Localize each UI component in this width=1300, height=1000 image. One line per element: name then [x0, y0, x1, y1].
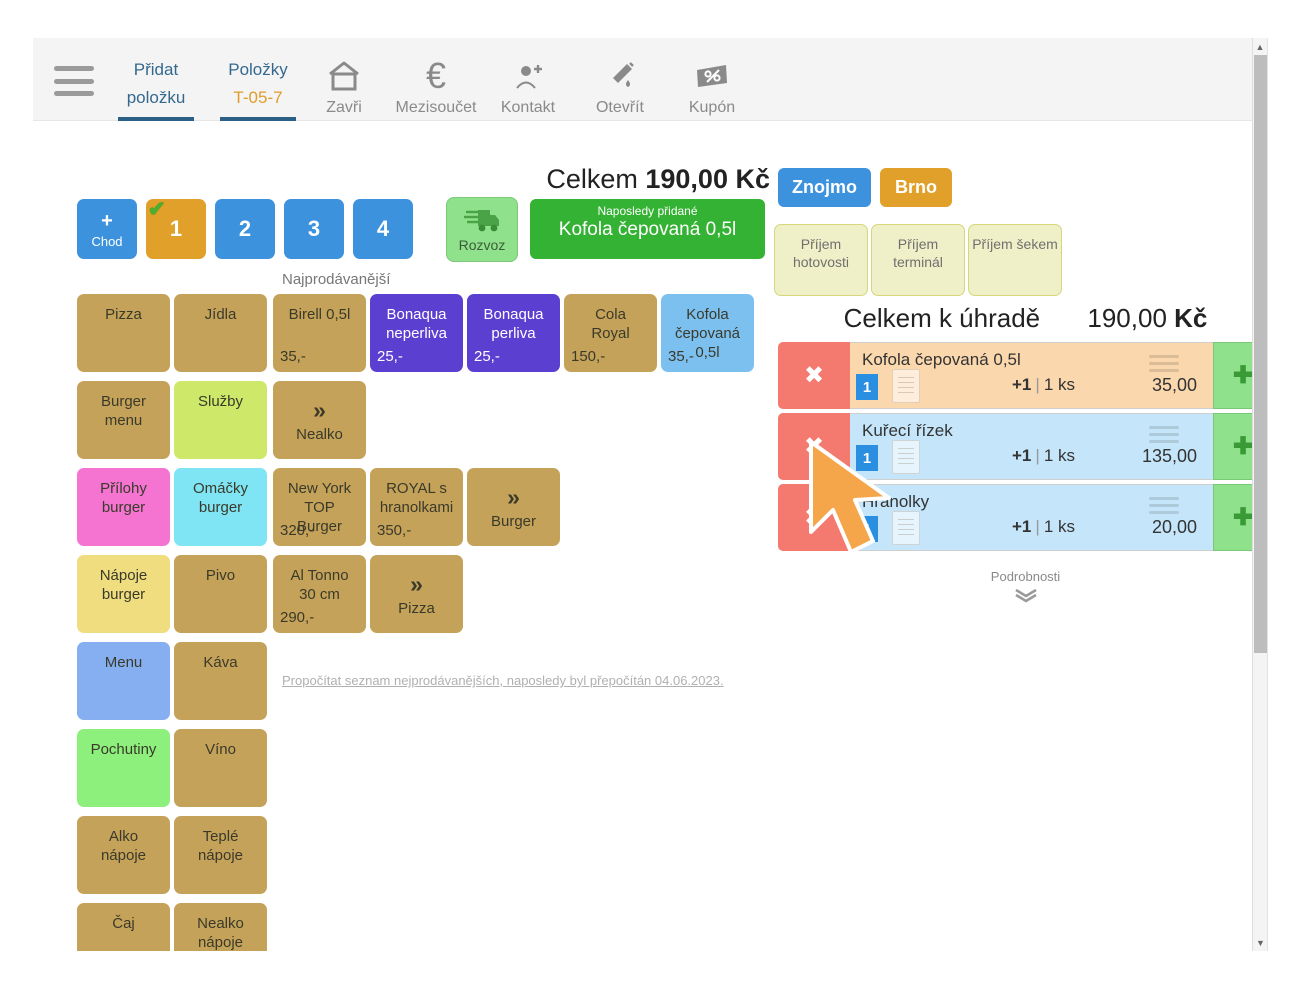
tab-add-item-underline [118, 117, 194, 121]
scroll-down-button[interactable]: ▼ [1253, 934, 1268, 951]
bestseller-tile-bonaqua-neperliva[interactable]: Bonaquaneperliva25,- [370, 294, 463, 372]
bestseller-tile-kofola-epovan-0-5l[interactable]: Kofolačepovaná0,5l35,- [661, 294, 754, 372]
payment-cheque-label: Příjem šekem [972, 236, 1058, 252]
bestseller-tile-price: 35,- [668, 347, 694, 366]
course-button-2-label: 2 [239, 216, 251, 242]
category-tile-label: Pivo [206, 567, 235, 584]
category-tile-pochutiny[interactable]: Pochutiny [77, 729, 170, 807]
category-tile-aj[interactable]: Čaj [77, 903, 170, 951]
course-button-2[interactable]: 2 [215, 199, 275, 259]
truck-icon [462, 206, 502, 237]
branch-button-brno[interactable]: Brno [880, 168, 952, 207]
bestseller-group-tile-nealko[interactable]: »Nealko [273, 381, 366, 459]
chevron-right-icon: » [273, 399, 366, 421]
order-item-body[interactable]: Kuřecí řízek1+1|1 ks135,00 [850, 413, 1213, 480]
bestseller-tile-label: Al Tonno30 cm [290, 567, 348, 603]
order-item-name: Kuřecí řízek [862, 421, 953, 441]
bestseller-tile-price: 150,- [571, 347, 605, 366]
category-tile-v-no[interactable]: Víno [174, 729, 267, 807]
bestseller-group-label: Pizza [370, 599, 463, 618]
category-tile-j-dla[interactable]: Jídla [174, 294, 267, 372]
bestseller-group-label: Burger [467, 512, 560, 531]
toolbar-button-open-label: Otevřít [574, 99, 666, 117]
chevron-down-icon [778, 587, 1268, 605]
close-icon: ✖ [804, 503, 824, 532]
category-tile-menu[interactable]: Menu [77, 642, 170, 720]
order-item-row[interactable]: ✖Hranolky1+1|1 ks20,00✚ [778, 484, 1268, 551]
bestseller-tile-cola-royal[interactable]: ColaRoyal150,- [564, 294, 657, 372]
category-tile-label: Káva [203, 654, 237, 671]
order-item-quantity: +1|1 ks [1012, 446, 1075, 466]
bestseller-tile-birell-0-5l[interactable]: Birell 0,5l35,- [273, 294, 366, 372]
percent-ticket-icon [666, 56, 758, 96]
order-item-delete-button[interactable]: ✖ [778, 413, 850, 480]
branch-button-znojmo-label: Znojmo [792, 177, 857, 198]
toolbar-button-close[interactable]: Zavři [298, 38, 390, 117]
bestseller-tile-label: ROYAL shranolkami [380, 480, 453, 516]
delivery-button[interactable]: Rozvoz [446, 197, 518, 262]
payment-terminal-label: Příjem terminál [893, 236, 943, 270]
bestseller-tile-price: 25,- [377, 347, 403, 366]
bestseller-tile-price: 35,- [280, 347, 306, 366]
payment-cheque-button[interactable]: Příjem šekem [968, 224, 1062, 296]
add-course-button[interactable]: + Chod [77, 199, 137, 259]
note-icon [892, 369, 920, 403]
category-tile-n-poje-burger[interactable]: Nápojeburger [77, 555, 170, 633]
course-button-3[interactable]: 3 [284, 199, 344, 259]
category-tile-label: Omáčkyburger [193, 480, 248, 516]
last-added-button[interactable]: Naposledy přidané Kofola čepovaná 0,5l [530, 199, 765, 259]
category-tile-label: Nealkonápoje [197, 915, 244, 951]
category-tile-label: Alkonápoje [101, 828, 146, 864]
order-item-name: Hranolky [862, 492, 929, 512]
course-button-3-label: 3 [308, 216, 320, 242]
category-tile-pizza[interactable]: Pizza [77, 294, 170, 372]
course-button-1-label: 1 [170, 216, 182, 242]
order-item-delete-button[interactable]: ✖ [778, 484, 850, 551]
bestseller-tile-price: 25,- [474, 347, 500, 366]
bestseller-tile-new-york-top-burger[interactable]: New YorkTOPBurger320,- [273, 468, 366, 546]
payment-terminal-button[interactable]: Příjem terminál [871, 224, 965, 296]
category-tile-label: Nápojeburger [100, 567, 148, 603]
plus-icon: ✚ [1233, 432, 1253, 461]
plus-icon: ✚ [1233, 503, 1253, 532]
bestseller-group-label: Nealko [273, 425, 366, 444]
order-total-top: Celkem 190,00 Kč [546, 164, 770, 195]
add-course-plus: + [101, 210, 113, 233]
branch-button-brno-label: Brno [895, 177, 937, 198]
category-tile-alko-n-poje[interactable]: Alkonápoje [77, 816, 170, 894]
order-item-amount: 135,00 [1142, 446, 1197, 467]
bestseller-tile-price: 290,- [280, 608, 314, 627]
category-tile-p-lohy-burger[interactable]: Přílohyburger [77, 468, 170, 546]
course-selector: + Chod ✔ 1 2 3 4 [77, 199, 413, 259]
person-add-icon [482, 56, 574, 96]
order-item-body[interactable]: Hranolky1+1|1 ks20,00 [850, 484, 1213, 551]
tab-items[interactable]: Položky T-05-7 [218, 38, 298, 112]
home-icon [298, 56, 390, 96]
payable-total: Celkem k úhradě 190,00 Kč [778, 303, 1268, 334]
order-total-top-amount: 190,00 [645, 164, 728, 194]
order-total-top-currency: Kč [735, 164, 770, 194]
bestseller-tile-price: 350,- [377, 521, 411, 540]
bestseller-tile-label: Bonaquaperliva [483, 306, 543, 342]
order-item-course-badge: 1 [856, 374, 878, 400]
scroll-up-button[interactable]: ▲ [1253, 38, 1267, 55]
details-toggle-label: Podrobnosti [991, 569, 1060, 584]
order-item-quantity: +1|1 ks [1012, 517, 1075, 537]
add-course-label: Chod [91, 234, 122, 249]
course-button-1[interactable]: ✔ 1 [146, 199, 206, 259]
bottle-pour-icon [574, 56, 666, 96]
scrollbar-thumb[interactable] [1254, 55, 1267, 653]
bestseller-tile-bonaqua-perliva[interactable]: Bonaquaperliva25,- [467, 294, 560, 372]
toolbar-button-subtotal-label: Mezisoučet [390, 99, 482, 117]
tab-items-underline [220, 117, 296, 121]
category-tile-label: Menu [105, 654, 143, 671]
toolbar-button-close-label: Zavři [298, 99, 390, 117]
bestseller-tile-label: Bonaquaneperliva [386, 306, 447, 342]
branch-button-znojmo[interactable]: Znojmo [778, 168, 871, 207]
order-item-course-badge: 1 [856, 445, 878, 471]
bestseller-group-tile-burger[interactable]: »Burger [467, 468, 560, 546]
toolbar-button-coupon[interactable]: Kupón [666, 38, 758, 117]
chevron-right-icon: » [467, 486, 560, 508]
payment-cash-label: Příjem hotovosti [793, 236, 849, 270]
category-tile-burger-menu[interactable]: Burgermenu [77, 381, 170, 459]
payable-total-label: Celkem k úhradě [844, 303, 1041, 333]
last-added-caption: Naposledy přidané [530, 204, 765, 218]
category-tile-label: Pochutiny [91, 741, 157, 758]
order-item-amount: 35,00 [1152, 375, 1197, 396]
note-icon [892, 511, 920, 545]
category-tile-label: Čaj [112, 915, 135, 932]
order-item-menu-icon[interactable] [1149, 426, 1179, 447]
category-tile-label: Teplénápoje [198, 828, 243, 864]
payment-cash-button[interactable]: Příjem hotovosti [774, 224, 868, 296]
close-icon: ✖ [804, 432, 824, 461]
top-toolbar: Přidat položku Položky T-05-7 Zavři € Me… [33, 38, 1254, 121]
category-tile-label: Burgermenu [101, 393, 146, 429]
tab-add-item[interactable]: Přidat položku [116, 38, 196, 112]
toolbar-button-contact[interactable]: Kontakt [482, 38, 574, 117]
category-tile-om-ky-burger[interactable]: Omáčkyburger [174, 468, 267, 546]
bestseller-tile-al-tonno-30-cm[interactable]: Al Tonno30 cm290,- [273, 555, 366, 633]
bestseller-tile-price: 320,- [280, 521, 314, 540]
category-tile-label: Jídla [205, 306, 237, 323]
close-icon: ✖ [804, 361, 824, 390]
order-item-row[interactable]: ✖Kuřecí řízek1+1|1 ks135,00✚ [778, 413, 1268, 480]
euro-icon: € [390, 56, 482, 96]
payable-total-amount: 190,00 [1087, 303, 1167, 333]
bestsellers-label: Najprodávanější [282, 271, 390, 288]
order-item-name: Kofola čepovaná 0,5l [862, 350, 1021, 370]
category-tile-label: Víno [205, 741, 236, 758]
category-tile-nealko-n-poje[interactable]: Nealkonápoje [174, 903, 267, 951]
category-tile-tepl-n-poje[interactable]: Teplénápoje [174, 816, 267, 894]
category-tile-k-va[interactable]: Káva [174, 642, 267, 720]
course-button-4-label: 4 [377, 216, 389, 242]
payable-total-currency: Kč [1174, 303, 1207, 333]
course-checked-icon: ✔ [148, 197, 166, 222]
order-item-body[interactable]: Kofola čepovaná 0,5l1+1|1 ks35,00 [850, 342, 1213, 409]
bestseller-group-tile-pizza[interactable]: »Pizza [370, 555, 463, 633]
tab-add-item-line2: položku [116, 84, 196, 112]
delivery-button-label: Rozvoz [459, 237, 506, 253]
order-item-course-badge: 1 [856, 516, 878, 542]
toolbar-button-subtotal[interactable]: € Mezisoučet [390, 38, 482, 117]
order-item-amount: 20,00 [1152, 517, 1197, 538]
bestseller-tile-label: ColaRoyal [591, 306, 629, 342]
details-toggle[interactable]: Podrobnosti [778, 569, 1268, 605]
hamburger-menu-icon[interactable] [54, 66, 94, 96]
order-item-menu-icon[interactable] [1149, 497, 1179, 518]
order-total-top-label: Celkem [546, 164, 638, 194]
toolbar-button-open[interactable]: Otevřít [574, 38, 666, 117]
recalculate-bestsellers-link[interactable]: Propočítat seznam nejprodávanějších, nap… [282, 673, 724, 688]
plus-icon: ✚ [1233, 361, 1253, 390]
toolbar-button-coupon-label: Kupón [666, 99, 758, 117]
chevron-right-icon: » [370, 573, 463, 595]
order-item-delete-button[interactable]: ✖ [778, 342, 850, 409]
category-tile-label: Přílohyburger [100, 480, 147, 516]
tab-items-table-code: T-05-7 [218, 84, 298, 112]
tab-items-line1: Položky [218, 56, 298, 84]
vertical-scrollbar[interactable]: ▲ ▼ [1252, 38, 1267, 951]
pos-application: Přidat položku Položky T-05-7 Zavři € Me… [33, 38, 1268, 951]
category-tile-label: Služby [198, 393, 243, 410]
category-tile-slu-by[interactable]: Služby [174, 381, 267, 459]
bestseller-tile-royal-s-hranolkami[interactable]: ROYAL shranolkami350,- [370, 468, 463, 546]
order-item-row[interactable]: ✖Kofola čepovaná 0,5l1+1|1 ks35,00✚ [778, 342, 1268, 409]
order-item-quantity: +1|1 ks [1012, 375, 1075, 395]
course-button-4[interactable]: 4 [353, 199, 413, 259]
category-tile-label: Pizza [105, 306, 142, 323]
last-added-item: Kofola čepovaná 0,5l [530, 219, 765, 241]
bestseller-tile-label: Birell 0,5l [289, 306, 351, 323]
note-icon [892, 440, 920, 474]
tab-add-item-line1: Přidat [116, 56, 196, 84]
toolbar-button-contact-label: Kontakt [482, 99, 574, 117]
category-tile-pivo[interactable]: Pivo [174, 555, 267, 633]
order-item-menu-icon[interactable] [1149, 355, 1179, 376]
